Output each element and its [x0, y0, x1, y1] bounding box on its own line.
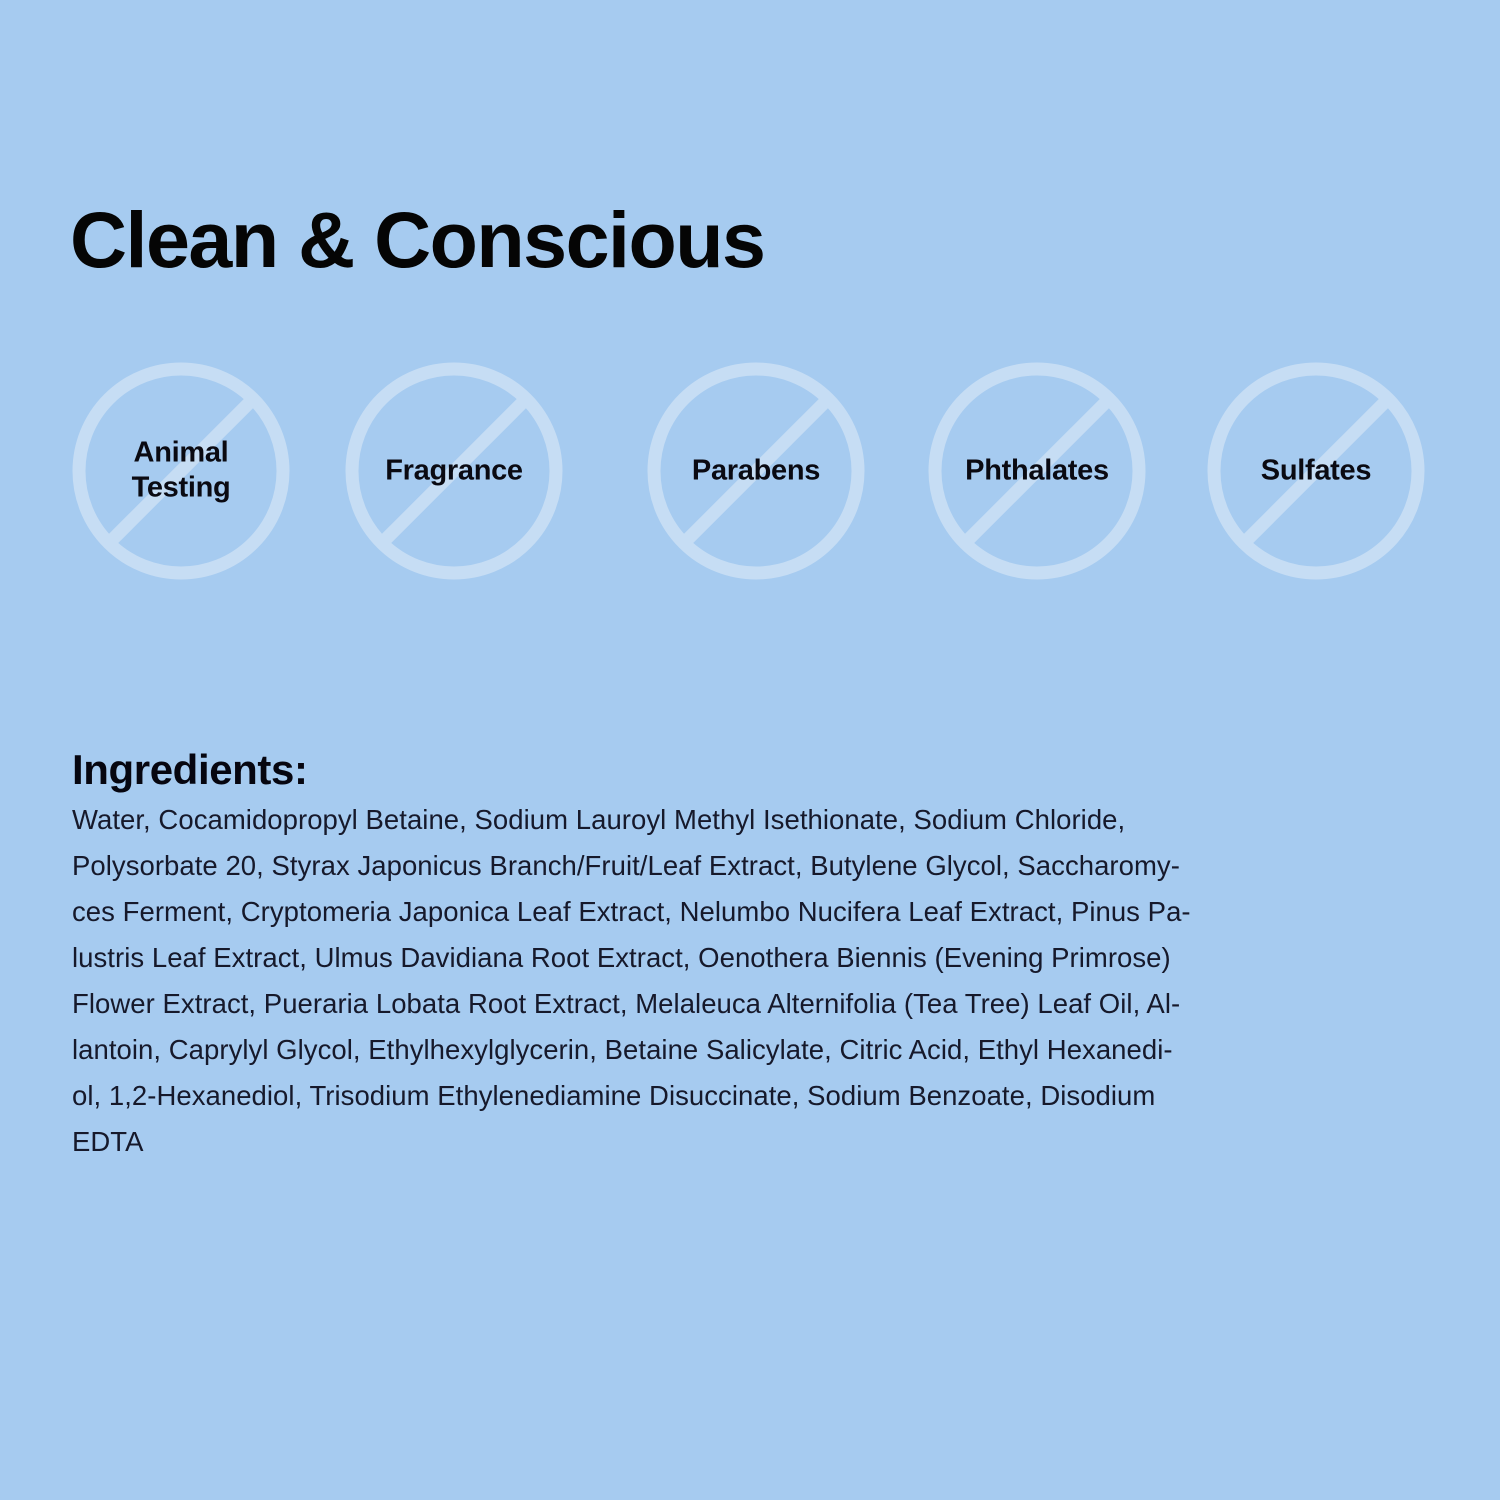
ingredients-line: EDTA: [72, 1119, 1440, 1165]
badge-phthalates: Phthalates: [928, 362, 1146, 580]
badge-label: Sulfates: [1176, 453, 1456, 488]
badge-label: Parabens: [616, 453, 896, 488]
badge-sulfates: Sulfates: [1207, 362, 1425, 580]
ingredients-line: lustris Leaf Extract, Ulmus Davidiana Ro…: [72, 935, 1440, 981]
free-from-badge-row: Animal Testing Fragrance Parabens Phthal…: [72, 362, 1428, 582]
ingredients-line: ol, 1,2-Hexanediol, Trisodium Ethylenedi…: [72, 1073, 1440, 1119]
ingredients-line: lantoin, Caprylyl Glycol, Ethylhexylglyc…: [72, 1027, 1440, 1073]
badge-label: Phthalates: [897, 453, 1177, 488]
ingredients-line: ces Ferment, Cryptomeria Japonica Leaf E…: [72, 889, 1440, 935]
product-detail-panel: Clean & Conscious Animal Testing Fragran…: [0, 0, 1500, 1500]
page-title: Clean & Conscious: [70, 200, 764, 279]
ingredients-heading: Ingredients:: [72, 747, 308, 793]
ingredients-line: Water, Cocamidopropyl Betaine, Sodium La…: [72, 797, 1440, 843]
ingredients-line: Flower Extract, Pueraria Lobata Root Ext…: [72, 981, 1440, 1027]
badge-animal-testing: Animal Testing: [72, 362, 290, 580]
badge-fragrance: Fragrance: [345, 362, 563, 580]
ingredients-line: Polysorbate 20, Styrax Japonicus Branch/…: [72, 843, 1440, 889]
badge-label: Fragrance: [314, 453, 594, 488]
badge-label: Animal Testing: [41, 436, 321, 507]
badge-parabens: Parabens: [647, 362, 865, 580]
ingredients-list: Water, Cocamidopropyl Betaine, Sodium La…: [72, 797, 1440, 1165]
